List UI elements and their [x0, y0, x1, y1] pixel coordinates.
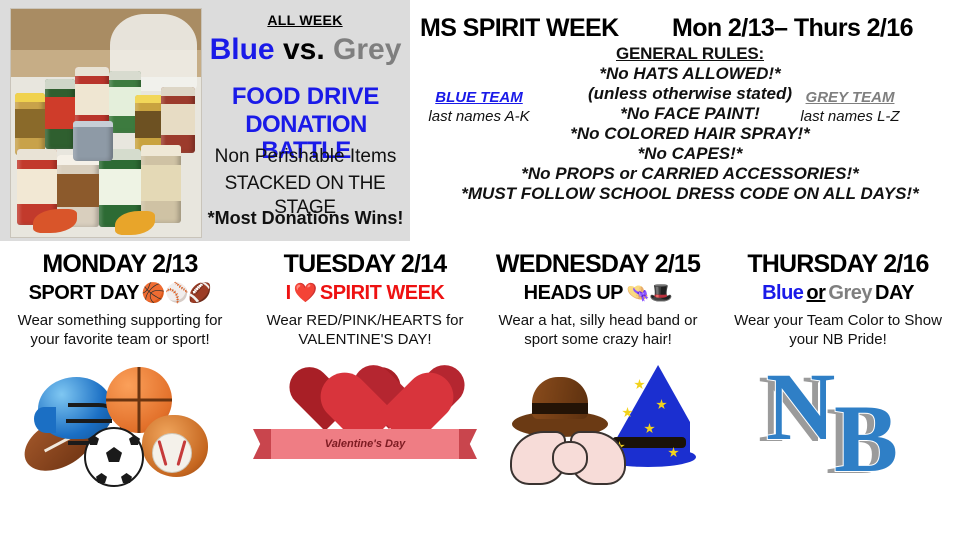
photo-can: [45, 79, 75, 149]
photo-can: [73, 121, 113, 161]
rule-item: *No PROPS or CARRIED ACCESSORIES!*: [430, 164, 950, 184]
bow-knot: [552, 441, 588, 475]
tuesday-theme-row: I ❤️ SPIRIT WEEK: [245, 282, 485, 305]
general-rules-heading: GENERAL RULES:: [430, 44, 950, 64]
wednesday-title: WEDNESDAY 2/15: [478, 250, 718, 279]
thursday-theme-or: or: [806, 282, 825, 305]
vs-word: vs.: [283, 33, 325, 66]
thursday-theme-row: Blue or Grey DAY: [718, 282, 958, 305]
wednesday-theme-row: HEADS UP 👒🎩: [478, 282, 718, 305]
valentines-banner: Valentine's Day: [269, 429, 461, 459]
most-donations-line: *Most Donations Wins!: [203, 207, 408, 229]
tuesday-description: Wear RED/PINK/HEARTS for VALENTINE'S DAY…: [245, 311, 485, 349]
star-icon: [634, 379, 645, 390]
thursday-theme-day: DAY: [875, 282, 914, 305]
monday-theme-row: SPORT DAY 🏀⚾🏈: [0, 282, 240, 305]
rule-item: *MUST FOLLOW SCHOOL DRESS CODE ON ALL DA…: [430, 184, 950, 204]
food-donation-photo: [10, 8, 202, 238]
heart-icon: ❤️: [294, 284, 317, 303]
all-week-panel: ALL WEEK Blue vs. Grey FOOD DRIVE DONATI…: [0, 0, 410, 241]
valentines-hearts-art: Valentine's Day: [255, 355, 475, 485]
tuesday-title: TUESDAY 2/14: [245, 250, 485, 279]
rule-item: *No HATS ALLOWED!*: [430, 64, 950, 84]
thursday-theme-grey: Grey: [828, 282, 872, 305]
blue-word: Blue: [210, 33, 275, 66]
monday-theme-label: SPORT DAY: [29, 282, 139, 305]
food-drive-line: FOOD DRIVE: [203, 84, 408, 110]
monday-title: MONDAY 2/13: [0, 250, 240, 279]
nb-logo-n: N: [766, 359, 835, 455]
spirit-week-dates: Mon 2/13– Thurs 2/16: [672, 14, 913, 43]
photo-can: [15, 93, 45, 155]
blue-team-detail: last names A-K: [424, 107, 534, 126]
soccer-ball-icon: [84, 427, 144, 487]
sports-collage-art: [10, 355, 230, 485]
day-column-wednesday: WEDNESDAY 2/15 HEADS UP 👒🎩 Wear a hat, s…: [478, 250, 718, 540]
rule-item: *No CAPES!*: [430, 144, 950, 164]
thursday-title: THURSDAY 2/16: [718, 250, 958, 279]
day-column-tuesday: TUESDAY 2/14 I ❤️ SPIRIT WEEK Wear RED/P…: [245, 250, 485, 540]
grey-team-detail: last names L-Z: [790, 107, 910, 126]
blue-team-label: BLUE TEAM: [424, 88, 534, 107]
grey-team-info: GREY TEAM last names L-Z: [790, 88, 910, 126]
fedora-band-icon: [532, 403, 588, 414]
thursday-theme-blue: Blue: [762, 282, 803, 305]
tuesday-theme-pre: I: [286, 282, 291, 305]
day-column-monday: MONDAY 2/13 SPORT DAY 🏀⚾🏈 Wear something…: [0, 250, 240, 540]
rule-item: *No COLORED HAIR SPRAY!*: [430, 124, 950, 144]
spirit-week-flyer: ALL WEEK Blue vs. Grey FOOD DRIVE DONATI…: [0, 0, 960, 540]
baseball-icon: [152, 433, 192, 473]
nb-logo-art: N B N B: [728, 355, 948, 485]
monday-description: Wear something supporting for your favor…: [0, 311, 240, 349]
tuesday-theme-label: SPIRIT WEEK: [320, 282, 445, 305]
all-week-heading: ALL WEEK: [205, 12, 405, 28]
non-perishable-line: Non Perishable Items: [203, 145, 408, 169]
wednesday-description: Wear a hat, silly head band or sport som…: [478, 311, 718, 349]
photo-can: [161, 87, 195, 153]
grey-word: Grey: [333, 33, 401, 66]
wednesday-theme-label: HEADS UP: [524, 282, 623, 305]
sports-balls-icon: 🏀⚾🏈: [142, 284, 211, 303]
thursday-description: Wear your Team Color to Show your NB Pri…: [718, 311, 958, 349]
pink-bow-icon: [510, 431, 626, 483]
blue-team-info: BLUE TEAM last names A-K: [424, 88, 534, 126]
hats-icon: 👒🎩: [626, 284, 672, 303]
nb-logo-b: B: [834, 391, 898, 487]
spirit-week-title: MS SPIRIT WEEK: [420, 14, 619, 43]
grey-team-label: GREY TEAM: [790, 88, 910, 107]
day-column-thursday: THURSDAY 2/16 Blue or Grey DAY Wear your…: [718, 250, 958, 540]
blue-vs-grey-heading: Blue vs. Grey: [203, 34, 408, 66]
valentines-banner-text: Valentine's Day: [325, 438, 405, 450]
nb-logo: N B N B: [742, 359, 934, 483]
hats-collage-art: [488, 355, 708, 485]
